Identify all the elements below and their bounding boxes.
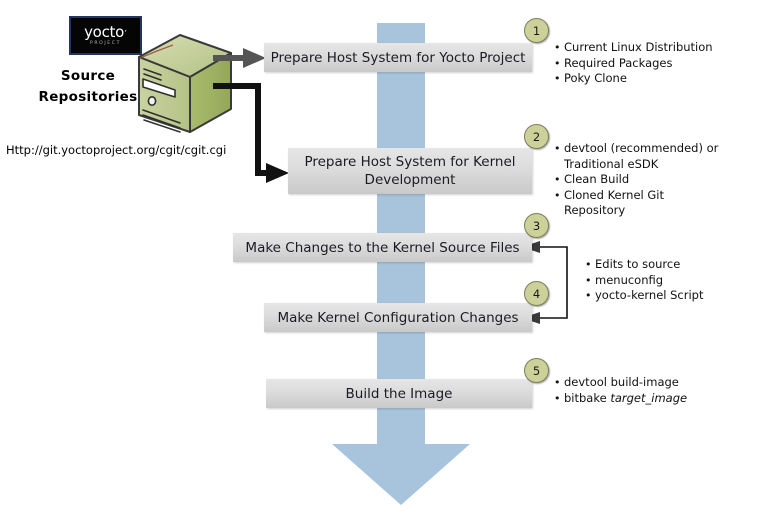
- step-2-note-item: devtool (recommended) or Traditional eSD…: [564, 141, 722, 172]
- step-box-2[interactable]: Prepare Host System for Kernel Developme…: [288, 148, 532, 194]
- source-repositories-line1: Source: [32, 66, 144, 87]
- step-1-note-item: Poky Clone: [564, 71, 762, 87]
- step-number-4: 4: [524, 281, 549, 306]
- step-3-4-note-item: yocto-kernel Script: [595, 288, 763, 304]
- source-repositories-url: Http://git.yoctoproject.org/cgit/cgit.cg…: [6, 143, 226, 157]
- step-3-4-notes: Edits to source menuconfig yocto-kernel …: [583, 257, 763, 304]
- step-number-1: 1: [524, 18, 549, 43]
- step-3-4-note-item: Edits to source: [595, 257, 763, 273]
- step-box-2-label: Prepare Host System for Kernel Developme…: [288, 153, 532, 189]
- step-number-2: 2: [524, 124, 549, 149]
- step-1-notes: Current Linux Distribution Required Pack…: [552, 40, 762, 87]
- step-2-note-item: Cloned Kernel Git Repository: [564, 188, 722, 219]
- step-number-4-text: 4: [533, 287, 540, 301]
- step-2-notes: devtool (recommended) or Traditional eSD…: [552, 141, 722, 219]
- step-2-note-item: Clean Build: [564, 172, 722, 188]
- step-number-3: 3: [524, 213, 549, 238]
- step-number-5: 5: [524, 358, 549, 383]
- step-box-5-label: Build the Image: [346, 385, 453, 403]
- yocto-logo-subtext: PROJECT: [90, 41, 121, 46]
- yocto-logo-wordmark: yocto·: [84, 25, 127, 40]
- server-tower-icon: [133, 31, 237, 138]
- step-5-notes: devtool build-image bitbake target_image: [552, 375, 752, 406]
- step-5-note-prefix: bitbake: [564, 391, 610, 405]
- step-box-5[interactable]: Build the Image: [266, 379, 532, 408]
- step-3-4-note-item: menuconfig: [595, 273, 763, 289]
- step-5-note-item: devtool build-image: [564, 375, 752, 391]
- step-box-4-label: Make Kernel Configuration Changes: [277, 309, 518, 327]
- step-number-1-text: 1: [533, 24, 540, 38]
- step-5-note-italic-arg: target_image: [610, 391, 687, 405]
- step-1-note-item: Required Packages: [564, 56, 762, 72]
- yocto-project-logo: yocto· PROJECT: [69, 16, 142, 55]
- step-number-2-text: 2: [533, 130, 540, 144]
- step-box-1[interactable]: Prepare Host System for Yocto Project: [264, 43, 532, 72]
- step-box-4[interactable]: Make Kernel Configuration Changes: [264, 303, 532, 332]
- source-repositories-label: Source Repositories: [32, 66, 144, 108]
- step-box-3[interactable]: Make Changes to the Kernel Source Files: [233, 233, 532, 262]
- step-number-3-text: 3: [533, 219, 540, 233]
- diagram-canvas: yocto· PROJECT Source Repositories Http:…: [0, 0, 769, 517]
- source-repositories-line2: Repositories: [32, 87, 144, 108]
- step-1-note-item: Current Linux Distribution: [564, 40, 762, 56]
- step-box-1-label: Prepare Host System for Yocto Project: [271, 49, 526, 67]
- step-5-note-item-bitbake: bitbake target_image: [564, 391, 752, 407]
- step-number-5-text: 5: [533, 364, 540, 378]
- step-box-3-label: Make Changes to the Kernel Source Files: [245, 239, 519, 257]
- yocto-logo-text: yocto: [84, 23, 124, 41]
- yocto-logo-dot: ·: [124, 27, 127, 38]
